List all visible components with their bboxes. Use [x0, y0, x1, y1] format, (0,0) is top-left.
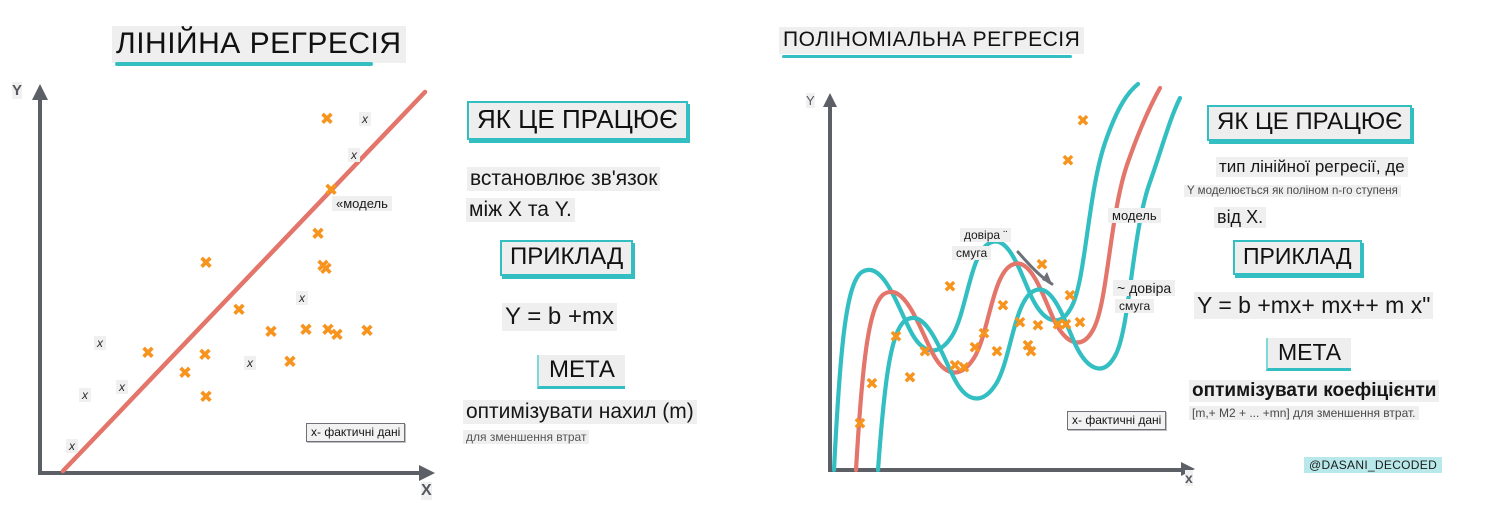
poly-how-line-1: тип лінійної регресії, де	[1216, 157, 1408, 177]
poly-band-label-1-line2: смуга	[952, 246, 991, 260]
linear-formula: Y = b +mx	[502, 303, 617, 331]
linear-how-line-1: встановлює зв'язок	[467, 167, 660, 191]
data-marker: ✖	[232, 302, 246, 319]
data-marker: ✖	[957, 361, 970, 377]
data-marker: ✖	[943, 280, 956, 296]
data-marker: ✖	[1013, 316, 1026, 332]
data-marker: ✖	[1061, 154, 1074, 170]
data-marker: ✖	[977, 327, 990, 343]
linear-goal-line-2: для зменшення втрат	[463, 430, 589, 444]
linear-how-it-works-header: ЯК ЦЕ ПРАЦЮЄ	[467, 101, 688, 140]
data-marker: ✖	[283, 354, 297, 371]
poly-how-line-2: Y моделюється як поліном n-го ступеня	[1184, 185, 1401, 197]
data-marker: ✖	[299, 322, 313, 339]
linear-regression-panel: ЛІНІЙНА РЕГРЕСІЯ Y X «модель ✖ ✖ ✖ ✖ ✖ ✖…	[0, 0, 770, 510]
poly-model-label: модель	[1108, 208, 1161, 223]
data-marker: ✖	[178, 365, 192, 382]
data-marker: ✖	[311, 226, 325, 243]
data-marker: ✖	[321, 322, 335, 339]
poly-legend: х- фактичні дані	[1067, 411, 1166, 430]
data-marker: ✖	[324, 182, 338, 199]
data-marker: ✖	[1035, 258, 1048, 274]
data-marker: ✖	[918, 345, 931, 361]
data-label-x: x	[116, 380, 128, 394]
poly-band-label-1-line1: довіра ¨	[960, 228, 1011, 242]
data-marker: ✖	[320, 111, 334, 128]
linear-model-label: «модель	[332, 196, 392, 211]
linear-how-line-2: між X та Y.	[466, 198, 575, 222]
watermark: @DASANI_DECODED	[1304, 457, 1442, 473]
poly-curves-svg	[770, 0, 1500, 510]
data-marker: ✖	[1031, 319, 1044, 335]
poly-how-it-works-header: ЯК ЦЕ ПРАЦЮЄ	[1207, 105, 1412, 141]
poly-how-line-3: від X.	[1214, 207, 1266, 228]
data-label-x: x	[79, 388, 91, 402]
data-marker: ✖	[990, 345, 1003, 361]
data-marker: ✖	[264, 324, 278, 341]
linear-example-header: ПРИКЛАД	[500, 240, 633, 276]
polynomial-regression-panel: ПОЛІНОМІАЛЬНА РЕГРЕСІЯ Y x модель довіра…	[770, 0, 1500, 510]
data-marker: ✖	[968, 341, 981, 357]
data-marker: ✖	[1073, 316, 1086, 332]
poly-goal-line-1: оптимізувати коефіцієнти	[1189, 380, 1439, 402]
data-marker: ✖	[199, 255, 213, 272]
data-marker: ✖	[360, 323, 374, 340]
data-marker: ✖	[1024, 345, 1037, 361]
linear-goal-line-1: оптимізувати нахил (m)	[463, 400, 697, 424]
data-marker: ✖	[1059, 318, 1072, 334]
linear-goal-header: МЕТА	[537, 355, 625, 389]
poly-band-label-2-line1: ~ довіра	[1113, 280, 1175, 296]
data-marker: ✖	[996, 299, 1009, 315]
data-label-x: x	[348, 148, 360, 162]
data-label-x: x	[359, 112, 371, 126]
data-label-x: x	[296, 291, 308, 305]
poly-band-label-2-line2: смуга	[1115, 299, 1154, 313]
data-marker: ✖	[853, 417, 866, 433]
data-marker: ✖	[198, 347, 212, 364]
data-marker: ✖	[1063, 289, 1076, 305]
data-marker: ✖	[199, 389, 213, 406]
poly-goal-header: МЕТА	[1266, 338, 1351, 371]
data-label-x: x	[94, 336, 106, 350]
data-marker: ✖	[1076, 114, 1089, 130]
data-marker: ✖	[889, 330, 902, 346]
linear-legend: х- фактичні дані	[306, 423, 405, 442]
poly-formula: Y = b +mx+ mx++ m x"	[1194, 292, 1433, 319]
data-marker: ✖	[141, 345, 155, 362]
poly-example-header: ПРИКЛАД	[1233, 240, 1362, 275]
data-marker: ✖	[865, 377, 878, 393]
data-label-x: x	[244, 356, 256, 370]
data-label-x: x	[66, 439, 78, 453]
poly-goal-line-2: [m,+ M2 + ... +mn] для зменшення втрат.	[1189, 406, 1419, 420]
data-marker: ✖	[319, 261, 333, 278]
data-marker: ✖	[903, 371, 916, 387]
